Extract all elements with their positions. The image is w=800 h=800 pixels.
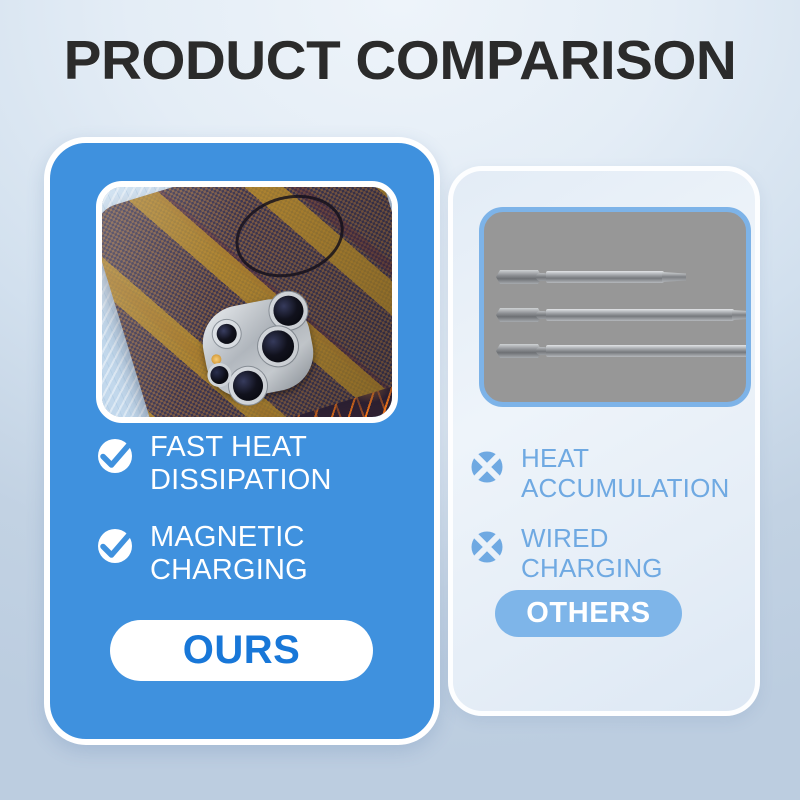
camera-lens-icon bbox=[271, 293, 306, 328]
comparison-infographic: PRODUCT COMPARISON bbox=[0, 0, 800, 800]
check-circle-icon bbox=[94, 435, 136, 482]
others-product-photo bbox=[479, 207, 751, 407]
ours-product-photo bbox=[96, 181, 398, 423]
check-circle-icon bbox=[94, 525, 136, 572]
bit-tip bbox=[732, 310, 751, 320]
camera-lens-icon bbox=[230, 368, 265, 403]
page-title: PRODUCT COMPARISON bbox=[0, 28, 800, 92]
cross-circle-icon bbox=[467, 447, 507, 492]
others-badge-label: OTHERS bbox=[526, 597, 650, 630]
feature-label: FAST HEAT DISSIPATION bbox=[150, 431, 434, 497]
ours-badge: OURS bbox=[110, 620, 373, 681]
feature-label: WIRED CHARGING bbox=[521, 523, 755, 583]
ours-card: FAST HEAT DISSIPATION MAGNETIC CHA bbox=[44, 137, 440, 745]
bit-shaft bbox=[546, 345, 751, 357]
list-item: MAGNETIC CHARGING bbox=[94, 521, 434, 587]
bit-shaft bbox=[546, 271, 664, 283]
flash-icon bbox=[210, 353, 222, 365]
list-item: WIRED CHARGING bbox=[467, 523, 755, 583]
others-badge: OTHERS bbox=[495, 590, 682, 637]
others-feature-list: HEAT ACCUMULATION WIRED CHARGING bbox=[453, 443, 755, 603]
cross-circle-icon bbox=[467, 527, 507, 572]
feature-label: HEAT ACCUMULATION bbox=[521, 443, 755, 503]
camera-module bbox=[196, 292, 320, 403]
feature-label: MAGNETIC CHARGING bbox=[150, 521, 434, 587]
phone-case-image bbox=[96, 181, 398, 423]
camera-lens-icon bbox=[215, 322, 238, 345]
camera-lens-icon bbox=[259, 327, 297, 365]
list-item: FAST HEAT DISSIPATION bbox=[94, 431, 434, 497]
others-card: HEAT ACCUMULATION WIRED CHARGING bbox=[448, 166, 760, 716]
magnetic-ring-icon bbox=[226, 183, 353, 289]
ours-feature-list: FAST HEAT DISSIPATION MAGNETIC CHA bbox=[50, 431, 434, 611]
bit-shaft bbox=[546, 309, 734, 321]
ours-badge-label: OURS bbox=[183, 628, 301, 673]
sensor-icon bbox=[209, 364, 230, 385]
bit-tip bbox=[662, 272, 686, 282]
list-item: HEAT ACCUMULATION bbox=[467, 443, 755, 503]
